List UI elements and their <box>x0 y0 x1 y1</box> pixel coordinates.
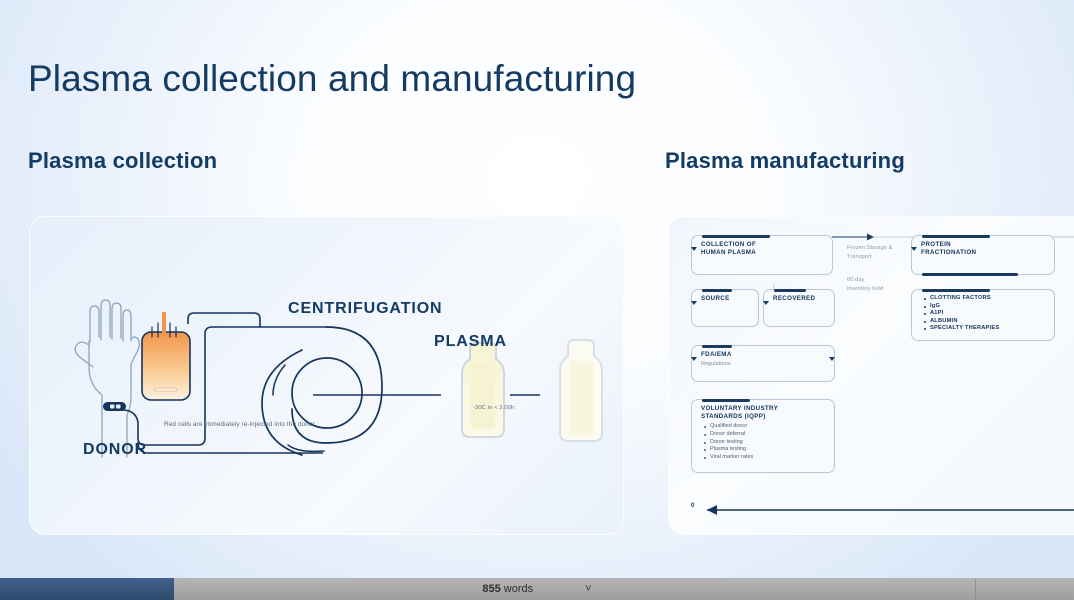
box-protein-fractionation[interactable]: PROTEIN FRACTIONATION <box>911 235 1055 275</box>
products-list: CLOTTING FACTORS IgG A1PI ALBUMIN SPECIA… <box>912 290 1054 333</box>
plasma-collection-illustration-card: DONOR CENTRIFUGATION PLASMA Red cells ar… <box>29 216 624 535</box>
connector-label-frozen-storage: Frozen Storage & Transport <box>847 244 892 262</box>
centrifugation-label: CENTRIFUGATION <box>288 300 443 318</box>
hand-icon <box>75 300 139 457</box>
list-item: Qualified donor <box>704 423 830 431</box>
box-cap <box>702 235 770 238</box>
list-item: Donor testing <box>704 439 830 447</box>
section-heading-plasma-collection: Plasma collection <box>28 148 217 174</box>
box-cap <box>922 235 990 238</box>
box-marker-triangle-recovered <box>763 301 769 305</box>
temperature-note: -30C in < 2.00h <box>473 405 514 411</box>
plasma-bottle-icon <box>462 343 504 437</box>
list-item: Plasma testing <box>704 446 830 454</box>
donor-label: DONOR <box>83 441 147 459</box>
box-title: VOLUNTARY INDUSTRY STANDARDS (IQPP) <box>692 400 834 421</box>
centrifuge-spiral-icon <box>262 327 382 455</box>
list-item: ALBUMIN <box>924 318 1050 326</box>
box-source[interactable]: SOURCE <box>691 289 759 327</box>
box-cap <box>702 345 732 348</box>
blood-bag-icon <box>142 312 190 400</box>
list-item: CLOTTING FACTORS <box>924 295 1050 303</box>
section-heading-plasma-manufacturing: Plasma manufacturing <box>665 148 905 174</box>
plasma-label: PLASMA <box>434 333 507 351</box>
box-collection-of-human-plasma[interactable]: COLLECTION OF HUMAN PLASMA <box>691 235 833 275</box>
status-bar-divider <box>975 579 976 599</box>
chevron-down-icon[interactable]: ˅ <box>585 584 591 595</box>
box-subtitle: Regulations <box>692 359 834 368</box>
box-voluntary-industry-standards[interactable]: VOLUNTARY INDUSTRY STANDARDS (IQPP) Qual… <box>691 399 835 473</box>
collection-illustration-svg <box>30 217 624 535</box>
connector-label-inventory-hold: 60 day inventory hold <box>847 276 883 294</box>
box-cap <box>702 399 750 402</box>
voluntary-standards-list: Qualified donor Donor deferral Donor tes… <box>692 421 834 461</box>
plasma-manufacturing-flow-card: COLLECTION OF HUMAN PLASMA SOURCE RECOVE… <box>668 216 1074 535</box>
red-cells-note: Red cells are immediately re-injected in… <box>164 421 315 428</box>
word-count-group[interactable]: 855 words ˅ <box>0 578 1074 600</box>
list-item: SPECIALTY THERAPIES <box>924 325 1050 333</box>
box-cap <box>702 289 732 292</box>
box-marker-triangle-source <box>691 301 697 305</box>
box-marker-triangle-protein <box>911 247 917 251</box>
box-title: COLLECTION OF HUMAN PLASMA <box>692 236 832 257</box>
box-marker-triangle-collection <box>691 247 697 251</box>
list-item: Donor deferral <box>704 431 830 439</box>
box-products[interactable]: CLOTTING FACTORS IgG A1PI ALBUMIN SPECIA… <box>911 289 1055 341</box>
box-cap <box>922 289 990 292</box>
box-fda-ema[interactable]: FDA/EMA Regulations <box>691 345 835 382</box>
box-cap <box>774 289 806 292</box>
list-item: Viral marker rates <box>704 454 830 462</box>
status-bar: 855 words ˅ <box>0 578 1074 600</box>
box-recovered[interactable]: RECOVERED <box>763 289 835 327</box>
box-bottom-bar <box>922 273 1018 276</box>
slide-canvas: Plasma collection and manufacturing Plas… <box>0 0 1074 578</box>
list-item: A1PI <box>924 310 1050 318</box>
box-marker-triangle-fda-right <box>829 357 835 361</box>
page-title: Plasma collection and manufacturing <box>28 58 636 100</box>
word-count-text: 855 words <box>482 583 533 595</box>
plasma-bottle-frozen-icon <box>560 340 602 441</box>
axis-zero-label: 0 <box>691 503 694 509</box>
list-item: IgG <box>924 303 1050 311</box>
word-count-number: 855 <box>482 583 500 595</box>
box-title: PROTEIN FRACTIONATION <box>912 236 1054 257</box>
word-count-label: words <box>501 583 533 595</box>
box-marker-triangle-fda <box>691 357 697 361</box>
